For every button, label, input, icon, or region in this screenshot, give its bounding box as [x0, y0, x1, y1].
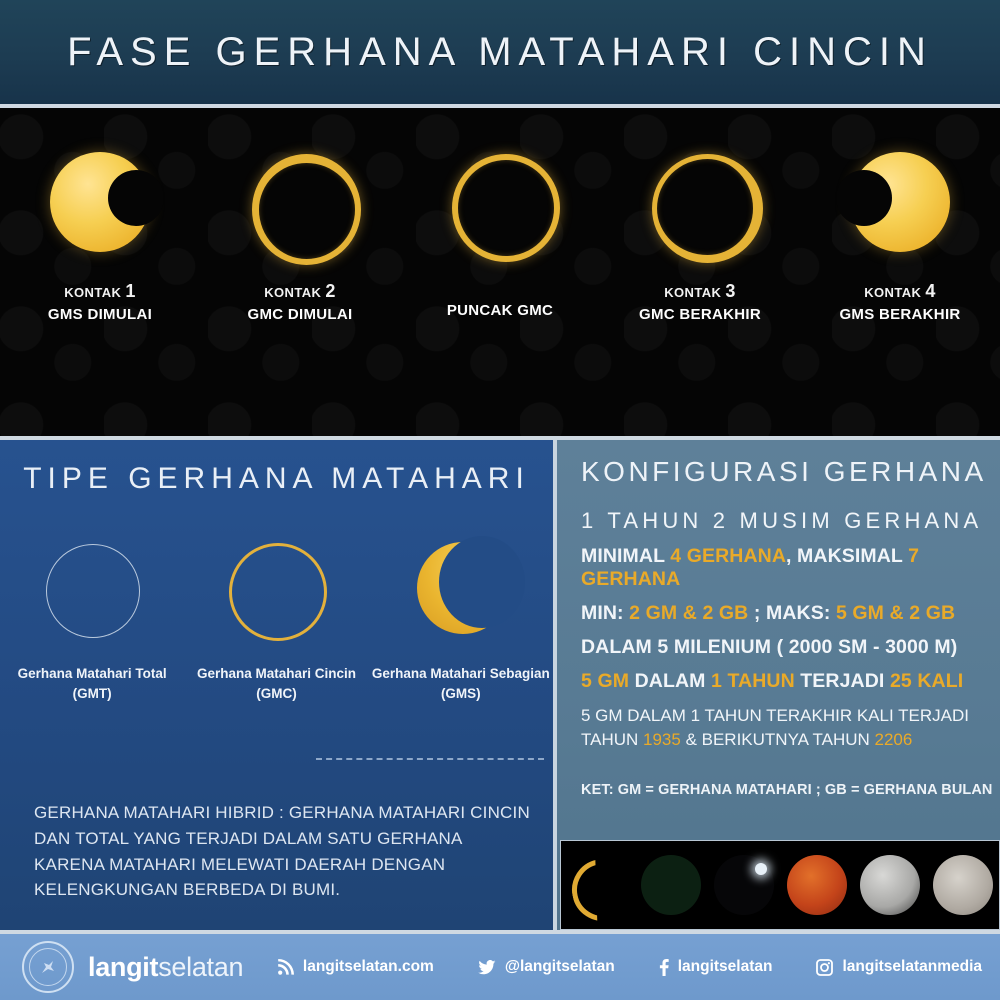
text-part: , MAKSIMAL: [786, 545, 908, 567]
sun-bitten-left-icon: [840, 142, 960, 262]
type-abbr: (GMT): [18, 684, 167, 704]
annular-ring-photo: [641, 855, 701, 915]
gold-part: 25 KALI: [890, 670, 963, 692]
phase-item-5: KONTAK 4 GMS BERAKHIR: [800, 108, 1000, 436]
hybrid-eclipse-text: GERHANA MATAHARI HIBRID : GERHANA MATAHA…: [34, 800, 534, 903]
config-line-minmax: MINIMAL 4 GERHANA, MAKSIMAL 7 GERHANA: [581, 545, 1000, 591]
phase-contact-number: 1: [125, 281, 135, 301]
config-line-minmax2: MIN: 2 GM & 2 GB ; MAKS: 5 GM & 2 GB: [581, 602, 1000, 625]
annular-crescent-photo: [568, 855, 628, 915]
phase-caption: PUNCAK GMC: [447, 300, 553, 322]
phase-item-2: KONTAK 2 GMC DIMULAI: [200, 108, 400, 436]
config-line-milenium: DALAM 5 MILENIUM ( 2000 SM - 3000 M): [581, 636, 1000, 659]
social-label: langitselatanmedia: [842, 958, 982, 976]
eclipse-phases-panel: KONTAK 1 GMS DIMULAI KONTAK 2 GMC DIMULA…: [0, 108, 1000, 436]
phase-caption: GMC DIMULAI: [248, 304, 353, 326]
types-title: TIPE GERHANA MATAHARI: [0, 462, 553, 496]
phase-item-1: KONTAK 1 GMS DIMULAI: [0, 108, 200, 436]
config-heading: 1 TAHUN 2 MUSIM GERHANA: [581, 508, 1000, 534]
type-item-cincin: Gerhana Matahari Cincin (GMC): [184, 540, 368, 705]
type-abbr: (GMC): [197, 684, 356, 704]
total-diamond-ring-photo: [714, 855, 774, 915]
social-label: @langitselatan: [505, 958, 615, 976]
social-label: langitselatan.com: [303, 958, 434, 976]
partial-lunar-photo: [860, 855, 920, 915]
gold-part: 2206: [875, 730, 913, 749]
annular-ring-even-icon: [440, 142, 560, 262]
social-twitter[interactable]: @langitselatan: [478, 958, 615, 976]
type-name: Gerhana Matahari Sebagian: [372, 664, 550, 684]
annular-ring-thick-top-icon: [240, 142, 360, 262]
phase-item-4: KONTAK 3 GMC BERAKHIR: [600, 108, 800, 436]
config-legend-note: KET: GM = GERHANA MATAHARI ; GB = GERHAN…: [581, 782, 993, 798]
phase-item-3: PUNCAK GMC: [400, 108, 600, 436]
footer-bar: langitselatan langitselatan.com @langits…: [0, 934, 1000, 1000]
social-label: langitselatan: [678, 958, 773, 976]
config-title: KONFIGURASI GERHANA: [581, 456, 1000, 488]
brand-wordmark: langitselatan: [88, 952, 243, 983]
gold-part: 5 GM: [581, 670, 629, 692]
blood-moon-photo: [787, 855, 847, 915]
gold-part: 4 GERHANA: [670, 545, 786, 567]
type-item-sebagian: Gerhana Matahari Sebagian (GMS): [369, 540, 553, 705]
phase-contact-label: KONTAK: [64, 285, 121, 300]
brand-light: selatan: [158, 952, 243, 982]
seal-inner-mark: [29, 948, 67, 986]
phase-contact-label: KONTAK: [664, 285, 721, 300]
dark-disc-outline-icon: [42, 540, 142, 640]
text-part: ; MAKS:: [748, 602, 836, 624]
phase-contact-label: KONTAK: [264, 285, 321, 300]
type-abbr: (GMS): [372, 684, 550, 704]
type-name: Gerhana Matahari Cincin: [197, 664, 356, 684]
text-part: TERJADI: [795, 670, 890, 692]
social-facebook[interactable]: langitselatan: [659, 958, 773, 976]
page-title: FASE GERHANA MATAHARI CINCIN: [67, 30, 933, 75]
gold-ring-icon: [226, 540, 326, 640]
gold-part: 1935: [643, 730, 681, 749]
phase-contact-number: 4: [925, 281, 935, 301]
eclipse-types-panel: TIPE GERHANA MATAHARI Gerhana Matahari T…: [0, 440, 553, 930]
text-part: MIN:: [581, 602, 629, 624]
facebook-icon: [659, 959, 669, 976]
gold-part: 5 GM & 2 GB: [836, 602, 955, 624]
rss-icon: [277, 959, 294, 976]
text-part: DALAM: [629, 670, 711, 692]
gold-part: 2 GM & 2 GB: [629, 602, 748, 624]
brand-bold: langit: [88, 952, 158, 982]
gold-part: 1 TAHUN: [711, 670, 795, 692]
phase-caption: GMS DIMULAI: [48, 304, 152, 326]
social-instagram[interactable]: langitselatanmedia: [816, 958, 982, 976]
phase-contact-number: 3: [725, 281, 735, 301]
phase-caption: GMS BERAKHIR: [839, 304, 960, 326]
social-website[interactable]: langitselatan.com: [277, 958, 434, 976]
text-part: & BERIKUTNYA TAHUN: [681, 730, 875, 749]
config-line-5gm: 5 GM DALAM 1 TAHUN TERJADI 25 KALI: [581, 670, 1000, 693]
type-name: Gerhana Matahari Total: [18, 664, 167, 684]
type-item-total: Gerhana Matahari Total (GMT): [0, 540, 184, 705]
header-banner: FASE GERHANA MATAHARI CINCIN: [0, 0, 1000, 104]
config-line-terakhir: 5 GM DALAM 1 TAHUN TERAKHIR KALI TERJADI…: [581, 704, 1000, 752]
full-moon-photo: [933, 855, 993, 915]
twitter-icon: [478, 960, 496, 975]
text-part: MINIMAL: [581, 545, 670, 567]
infographic-root: FASE GERHANA MATAHARI CINCIN KONTAK 1 GM…: [0, 0, 1000, 1000]
langitselatan-seal-logo: [22, 941, 74, 993]
phase-contact-label: KONTAK: [864, 285, 921, 300]
eclipse-photo-strip: [560, 840, 1000, 930]
annular-ring-offset-icon: [640, 142, 760, 262]
left-dashed-divider: [316, 758, 544, 760]
instagram-icon: [816, 959, 833, 976]
sun-bitten-right-icon: [40, 142, 160, 262]
gold-crescent-icon: [411, 540, 511, 640]
phase-contact-number: 2: [325, 281, 335, 301]
social-links: langitselatan.com @langitselatan langits…: [277, 958, 982, 976]
phase-caption: GMC BERAKHIR: [639, 304, 761, 326]
